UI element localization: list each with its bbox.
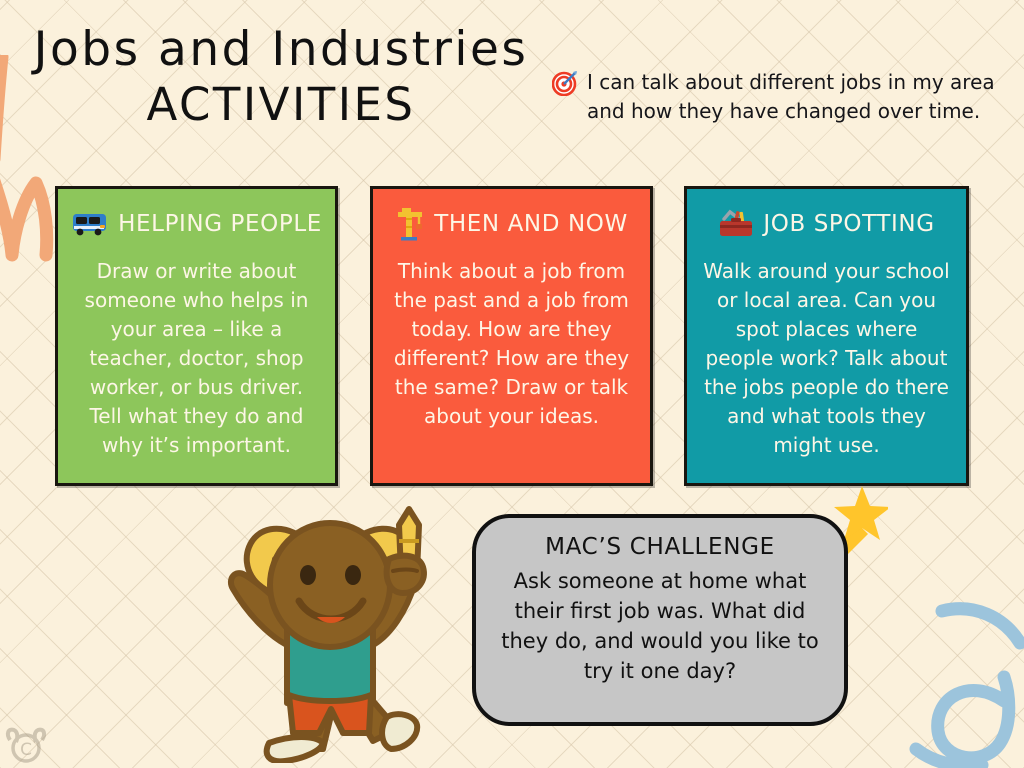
card-body-text: Draw or write about someone who helps in… [72,257,321,460]
card-header: JOB SPOTTING [701,203,952,245]
card-title: THEN AND NOW [434,211,628,237]
challenge-title: MAC’S CHALLENGE [496,534,824,560]
card-body-text: Think about a job from the past and a jo… [387,257,636,431]
learning-objective: I can talk about different jobs in my ar… [552,68,1000,126]
activity-card-job-spotting[interactable]: JOB SPOTTING Walk around your school or … [684,186,969,486]
bus-icon [71,211,109,237]
card-body-text: Walk around your school or local area. C… [701,257,952,460]
activity-card-then-and-now[interactable]: THEN AND NOW Think about a job from the … [370,186,653,486]
toolbox-icon [718,209,754,239]
card-title: JOB SPOTTING [763,211,934,237]
construction-crane-icon [395,207,425,241]
challenge-box[interactable]: MAC’S CHALLENGE Ask someone at home what… [472,514,848,726]
page-title: Jobs and Industries ACTIVITIES [26,22,536,132]
dart-target-icon [552,70,578,100]
objective-text: I can talk about different jobs in my ar… [587,68,1000,126]
svg-text:C: C [20,740,32,760]
title-line-2: ACTIVITIES [26,78,536,132]
moose-mascot [203,497,457,763]
activity-card-helping-people[interactable]: HELPING PEOPLE Draw or write about someo… [55,186,338,486]
blue-swirl-doodle [864,559,1024,768]
copyright-moose-watermark: C [4,724,48,764]
card-header: HELPING PEOPLE [72,203,321,245]
title-line-1: Jobs and Industries [26,22,536,78]
card-title: HELPING PEOPLE [118,211,322,237]
challenge-text: Ask someone at home what their first job… [496,566,824,686]
slide-canvas: Jobs and Industries ACTIVITIES I can tal… [0,0,1024,768]
card-header: THEN AND NOW [387,203,636,245]
